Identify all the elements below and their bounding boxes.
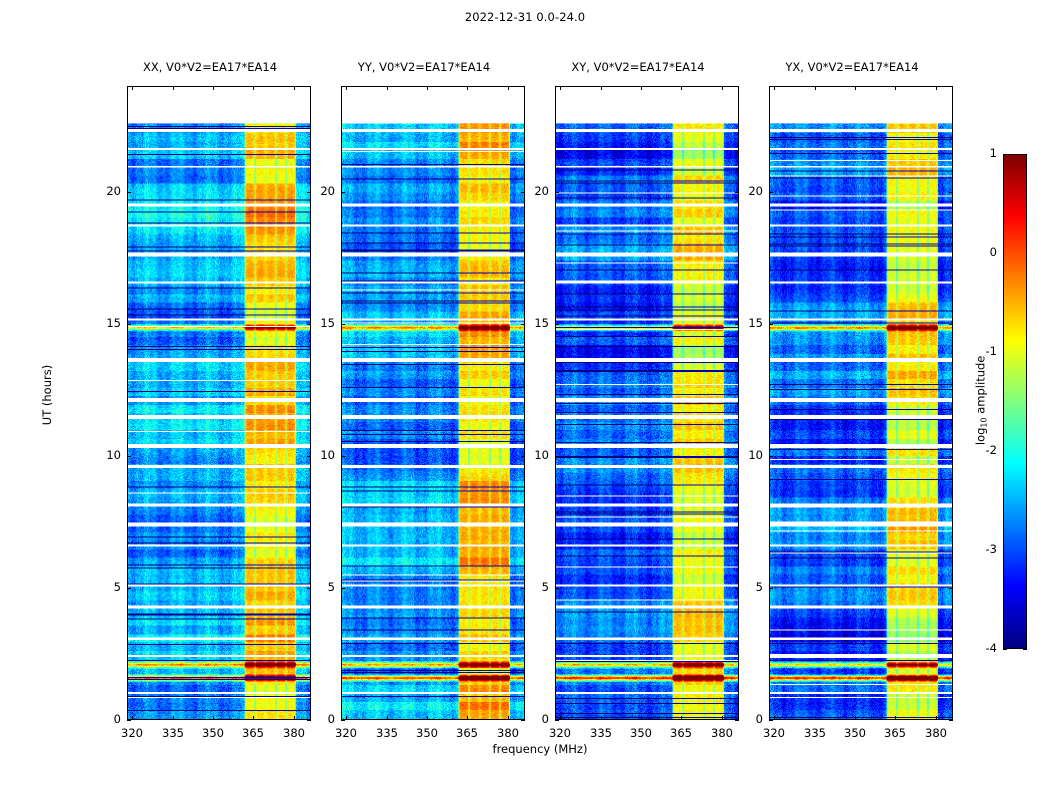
figure-suptitle: 2022-12-31 0.0-24.0 [0,10,1050,24]
ytick-mark-right-3-4 [949,192,953,193]
xtick-mark-top-2-4 [722,86,723,90]
xtick-mark-1-0 [346,716,347,720]
xtick-mark-top-2-0 [560,86,561,90]
ytick-mark-0-1 [127,588,131,589]
xtick-mark-top-0-3 [253,86,254,90]
ytick-mark-2-0 [555,720,559,721]
ytick-mark-right-3-2 [949,456,953,457]
xtick-label-1-0: 320 [326,726,366,740]
ytick-label-1-4: 20 [295,184,335,198]
figure-canvas: 2022-12-31 0.0-24.0 XX, V0*V2=EA17*EA14 … [0,0,1050,800]
ytick-mark-right-3-1 [949,588,953,589]
xtick-mark-3-0 [774,716,775,720]
ytick-label-0-3: 15 [81,316,121,330]
xtick-label-3-0: 320 [754,726,794,740]
xtick-label-1-4: 380 [488,726,528,740]
xtick-mark-top-3-1 [815,86,816,90]
colorbar-tick-label-1: -3 [963,542,997,556]
spectrum-panel-xy[interactable] [555,86,739,720]
xtick-mark-3-2 [855,716,856,720]
xtick-mark-top-1-0 [346,86,347,90]
colorbar-tick-label-5: 1 [963,146,997,160]
xtick-mark-top-1-1 [387,86,388,90]
xtick-mark-0-0 [132,716,133,720]
xtick-label-0-0: 320 [112,726,152,740]
xtick-mark-1-2 [427,716,428,720]
xtick-mark-top-1-3 [467,86,468,90]
ytick-mark-2-1 [555,588,559,589]
ytick-label-3-3: 15 [723,316,763,330]
colorbar-label: log10 amplitude [974,320,989,480]
panel-title-xx: XX, V0*V2=EA17*EA14 [104,60,316,74]
colorbar-tick-mark-right-0 [1023,649,1027,650]
ytick-label-2-4: 20 [509,184,549,198]
ytick-label-3-1: 5 [723,580,763,594]
xtick-label-2-2: 350 [621,726,661,740]
xtick-mark-top-0-4 [294,86,295,90]
ytick-label-1-2: 10 [295,448,335,462]
panel-title-yx: YX, V0*V2=EA17*EA14 [746,60,958,74]
ytick-mark-right-3-3 [949,324,953,325]
xtick-mark-0-3 [253,716,254,720]
xtick-label-0-4: 380 [274,726,314,740]
ytick-mark-0-0 [127,720,131,721]
xtick-label-3-3: 365 [875,726,915,740]
ytick-mark-3-2 [769,456,773,457]
xtick-label-2-0: 320 [540,726,580,740]
ytick-label-0-4: 20 [81,184,121,198]
ytick-mark-1-4 [341,192,345,193]
colorbar-tick-label-4: 0 [963,245,997,259]
xtick-mark-top-3-0 [774,86,775,90]
xtick-mark-2-3 [681,716,682,720]
xtick-label-0-2: 350 [193,726,233,740]
xtick-label-1-2: 350 [407,726,447,740]
xtick-mark-top-3-3 [895,86,896,90]
panel-title-xy: XY, V0*V2=EA17*EA14 [532,60,744,74]
ytick-label-3-0: 0 [723,712,763,726]
xtick-mark-3-1 [815,716,816,720]
xtick-mark-1-1 [387,716,388,720]
xtick-mark-2-2 [641,716,642,720]
spectrum-image-xx [128,87,310,719]
xtick-label-1-1: 335 [367,726,407,740]
spectrum-image-yy [342,87,524,719]
x-axis-label: frequency (MHz) [325,742,755,756]
ytick-mark-1-0 [341,720,345,721]
xtick-mark-0-2 [213,716,214,720]
xtick-mark-1-3 [467,716,468,720]
colorbar-tick-label-0: -4 [963,641,997,655]
xtick-mark-top-0-1 [173,86,174,90]
colorbar-label-text: log10 amplitude [974,356,988,446]
ytick-label-2-2: 10 [509,448,549,462]
panel-title-yy: YY, V0*V2=EA17*EA14 [318,60,530,74]
xtick-mark-top-1-2 [427,86,428,90]
ytick-label-0-1: 5 [81,580,121,594]
ytick-mark-1-2 [341,456,345,457]
xtick-mark-top-1-4 [508,86,509,90]
ytick-label-0-0: 0 [81,712,121,726]
xtick-mark-top-3-2 [855,86,856,90]
ytick-mark-1-1 [341,588,345,589]
xtick-label-2-4: 380 [702,726,742,740]
ytick-mark-0-3 [127,324,131,325]
ytick-mark-0-4 [127,192,131,193]
xtick-mark-2-0 [560,716,561,720]
xtick-mark-3-3 [895,716,896,720]
colorbar-tick-mark-0 [1003,649,1007,650]
spectrum-panel-yy[interactable] [341,86,525,720]
xtick-mark-2-1 [601,716,602,720]
ytick-label-2-1: 5 [509,580,549,594]
ytick-label-1-3: 15 [295,316,335,330]
spectrum-image-xy [556,87,738,719]
ytick-label-0-2: 10 [81,448,121,462]
ytick-label-2-3: 15 [509,316,549,330]
ytick-mark-0-2 [127,456,131,457]
xtick-mark-top-2-1 [601,86,602,90]
xtick-mark-top-0-0 [132,86,133,90]
ytick-label-1-0: 0 [295,712,335,726]
ytick-label-2-0: 0 [509,712,549,726]
xtick-label-3-2: 350 [835,726,875,740]
ytick-label-1-1: 5 [295,580,335,594]
xtick-mark-top-2-2 [641,86,642,90]
ytick-mark-2-3 [555,324,559,325]
ytick-mark-3-4 [769,192,773,193]
ytick-mark-2-2 [555,456,559,457]
xtick-mark-3-4 [936,716,937,720]
spectrum-panel-xx[interactable] [127,86,311,720]
xtick-label-0-1: 335 [153,726,193,740]
y-axis-label: UT (hours) [40,335,54,455]
ytick-mark-right-3-0 [949,720,953,721]
xtick-label-3-1: 335 [795,726,835,740]
xtick-mark-top-0-2 [213,86,214,90]
colorbar[interactable] [1003,154,1027,649]
xtick-label-0-3: 365 [233,726,273,740]
ytick-label-3-4: 20 [723,184,763,198]
xtick-mark-top-2-3 [681,86,682,90]
ytick-mark-3-1 [769,588,773,589]
ytick-mark-3-0 [769,720,773,721]
ytick-label-3-2: 10 [723,448,763,462]
xtick-label-2-1: 335 [581,726,621,740]
xtick-mark-top-3-4 [936,86,937,90]
xtick-mark-0-1 [173,716,174,720]
spectrum-image-yx [770,87,952,719]
xtick-label-1-3: 365 [447,726,487,740]
ytick-mark-2-4 [555,192,559,193]
ytick-mark-1-3 [341,324,345,325]
spectrum-panel-yx[interactable] [769,86,953,720]
ytick-mark-3-3 [769,324,773,325]
xtick-label-2-3: 365 [661,726,701,740]
xtick-label-3-4: 380 [916,726,956,740]
